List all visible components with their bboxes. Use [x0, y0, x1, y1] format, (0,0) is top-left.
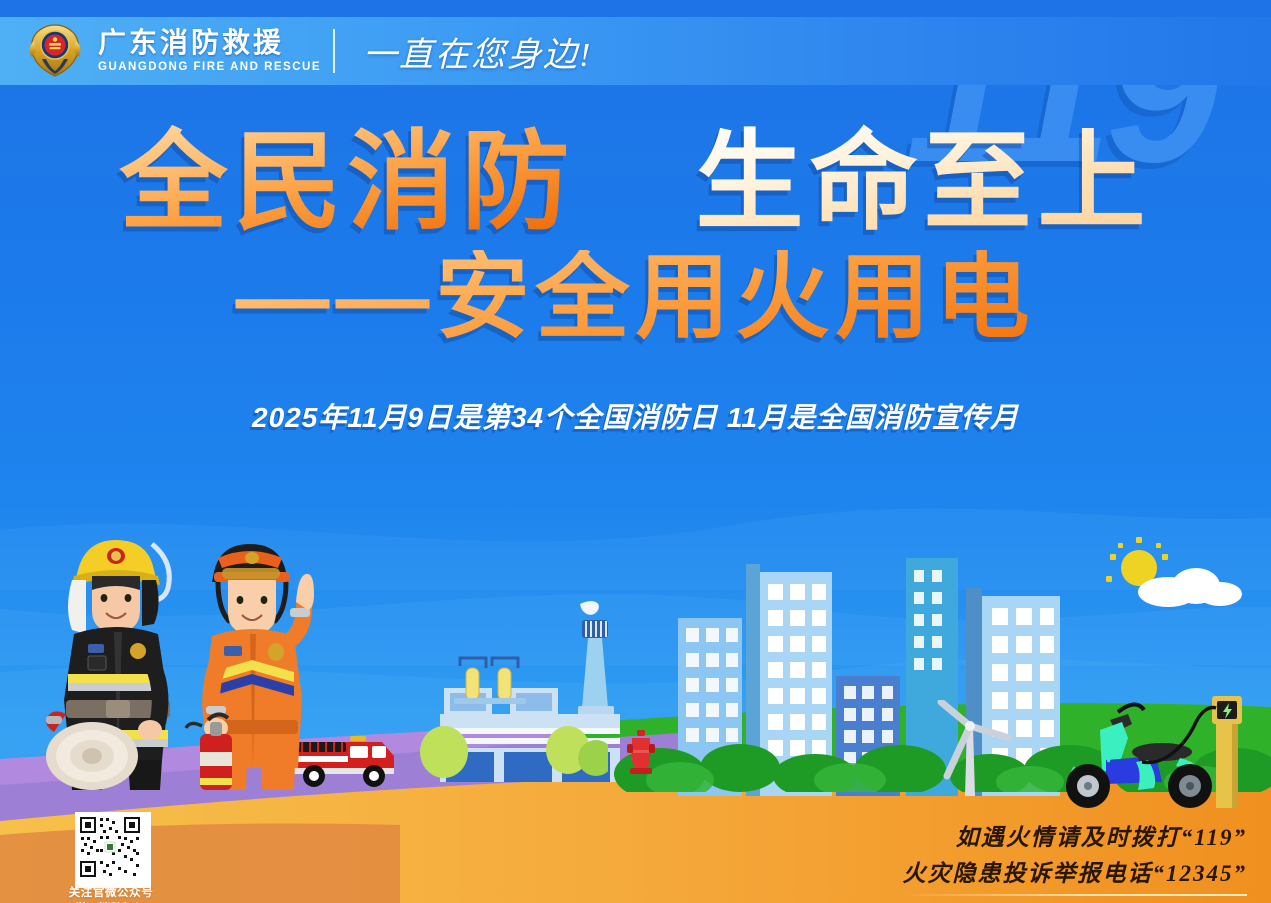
- illustration-scene: [0, 0, 1271, 903]
- qr-caption-line-1: 关注官微公众号: [46, 886, 176, 902]
- cloud-icon: [1130, 560, 1250, 613]
- notice-line-2: 火灾隐患投诉举报电话“12345”: [903, 856, 1248, 892]
- emergency-notice: 如遇火情请及时拨打“119” 火灾隐患投诉举报电话“12345”: [903, 820, 1248, 896]
- notice-underline: [903, 894, 1248, 896]
- trees-left: [418, 718, 608, 783]
- qr-caption: 关注官微公众号 学习消防知识: [46, 886, 176, 903]
- wechat-qr-code[interactable]: [75, 812, 151, 888]
- notice-line-1: 如遇火情请及时拨打“119”: [903, 820, 1248, 856]
- fire-safety-poster: 119 广东消防救援 GUAN: [0, 0, 1271, 903]
- firefighter-in-orange-uniform: [178, 530, 328, 797]
- charging-cable: [1140, 700, 1230, 775]
- fire-hydrant-icon: [624, 728, 658, 785]
- wind-turbine-icon: [925, 700, 1015, 805]
- firefighter-in-black-turnout-gear: [44, 524, 194, 797]
